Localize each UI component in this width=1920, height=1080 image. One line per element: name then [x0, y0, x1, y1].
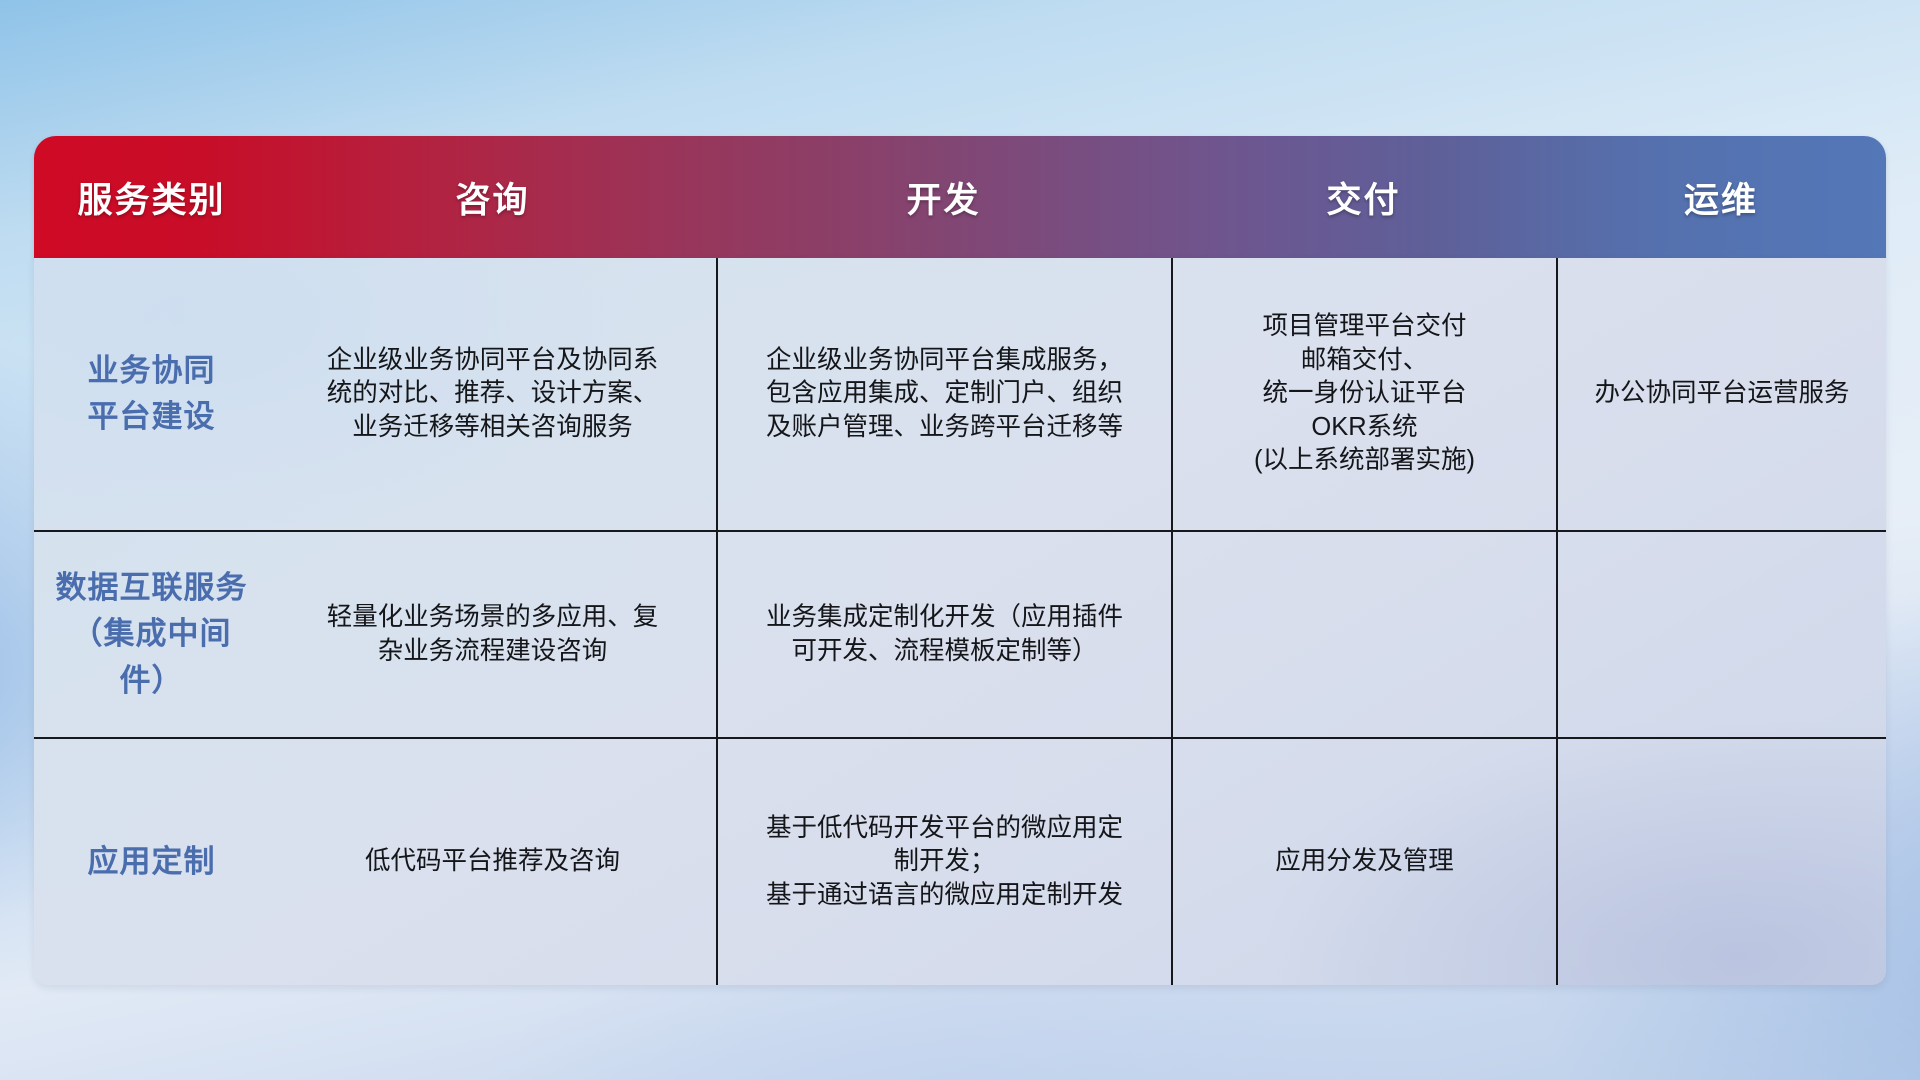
services-matrix-table: 服务类别 咨询 开发 交付 运维 业务协同 平台建设 企业级业务协同平台及协同系… [34, 136, 1886, 964]
column-header-consulting: 咨询 [269, 136, 716, 258]
cell-delivery-row1: 项目管理平台交付 邮箱交付、 统一身份认证平台 OKR系统 (以上系统部署实施) [1171, 258, 1556, 530]
cell-category-row3: 应用定制 [34, 739, 269, 985]
cell-operations-row3 [1556, 739, 1886, 985]
column-header-operations: 运维 [1556, 136, 1886, 258]
cell-category-row2: 数据互联服务 （集成中间件） [34, 532, 269, 737]
cell-consulting-row2: 轻量化业务场景的多应用、复 杂业务流程建设咨询 [269, 532, 716, 737]
cell-category-row1: 业务协同 平台建设 [34, 258, 269, 530]
cell-development-row1: 企业级业务协同平台集成服务， 包含应用集成、定制门户、组织 及账户管理、业务跨平… [716, 258, 1171, 530]
table-row: 业务协同 平台建设 企业级业务协同平台及协同系 统的对比、推荐、设计方案、 业务… [34, 258, 1886, 530]
cell-consulting-row1: 企业级业务协同平台及协同系 统的对比、推荐、设计方案、 业务迁移等相关咨询服务 [269, 258, 716, 530]
cell-delivery-row3: 应用分发及管理 [1171, 739, 1556, 985]
cell-development-row3: 基于低代码开发平台的微应用定 制开发； 基于通过语言的微应用定制开发 [716, 739, 1171, 985]
cell-operations-row2 [1556, 532, 1886, 737]
cell-development-row2: 业务集成定制化开发（应用插件 可开发、流程模板定制等） [716, 532, 1171, 737]
cell-consulting-row3: 低代码平台推荐及咨询 [269, 739, 716, 985]
table-row: 数据互联服务 （集成中间件） 轻量化业务场景的多应用、复 杂业务流程建设咨询 业… [34, 530, 1886, 737]
slide-canvas: 服务类别 咨询 开发 交付 运维 业务协同 平台建设 企业级业务协同平台及协同系… [0, 0, 1920, 1080]
column-header-development: 开发 [716, 136, 1171, 258]
cell-operations-row1: 办公协同平台运营服务 [1556, 258, 1886, 530]
cell-delivery-row2 [1171, 532, 1556, 737]
table-row: 应用定制 低代码平台推荐及咨询 基于低代码开发平台的微应用定 制开发； 基于通过… [34, 737, 1886, 985]
column-header-delivery: 交付 [1171, 136, 1556, 258]
table-header-row: 服务类别 咨询 开发 交付 运维 [34, 136, 1886, 258]
table-body: 业务协同 平台建设 企业级业务协同平台及协同系 统的对比、推荐、设计方案、 业务… [34, 258, 1886, 985]
column-header-category: 服务类别 [34, 136, 269, 258]
